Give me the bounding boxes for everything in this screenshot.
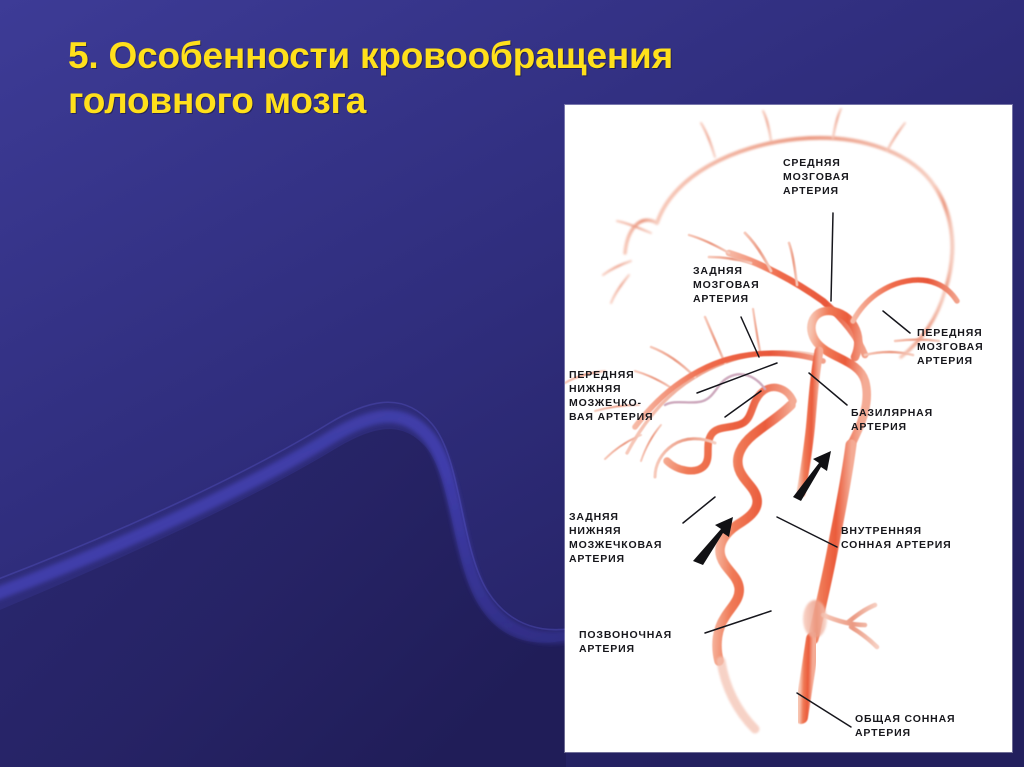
label-internal-carotid-artery: ВНУТРЕННЯЯ СОННАЯ АРТЕРИЯ [841,525,952,553]
presentation-slide: 5. Особенности кровообращения головного … [0,0,1024,767]
label-middle-cerebral-artery: СРЕДНЯЯ МОЗГОВАЯ АРТЕРИЯ [783,157,849,199]
label-anterior-inferior-cerebellar-artery: ПЕРЕДНЯЯ НИЖНЯЯ МОЗЖЕЧКО- ВАЯ АРТЕРИЯ [569,369,653,425]
label-basilar-artery: БАЗИЛЯРНАЯ АРТЕРИЯ [851,407,933,435]
label-posterior-cerebral-artery: ЗАДНЯЯ МОЗГОВАЯ АРТЕРИЯ [693,265,759,307]
label-common-carotid-artery: ОБЩАЯ СОННАЯ АРТЕРИЯ [855,713,955,741]
label-anterior-cerebral-artery: ПЕРЕДНЯЯ МОЗГОВАЯ АРТЕРИЯ [917,327,983,369]
carotid-bulb [803,600,827,638]
label-vertebral-artery: ПОЗВОНОЧНАЯ АРТЕРИЯ [579,629,672,657]
label-posterior-inferior-cerebellar-artery: ЗАДНЯЯ НИЖНЯЯ МОЗЖЕЧКОВАЯ АРТЕРИЯ [569,511,662,567]
figure-panel: СРЕДНЯЯ МОЗГОВАЯ АРТЕРИЯ ЗАДНЯЯ МОЗГОВАЯ… [565,105,1012,752]
